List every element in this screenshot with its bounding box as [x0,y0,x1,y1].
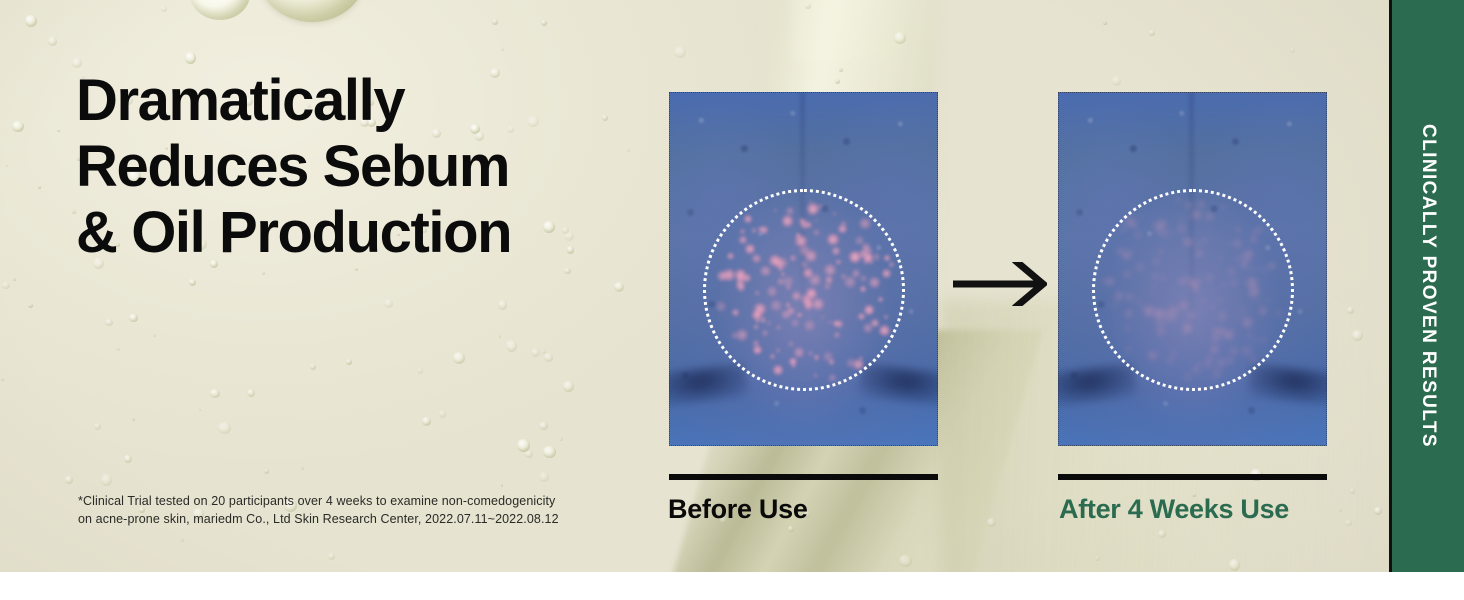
after-label: After 4 Weeks Use [1059,494,1289,525]
bubble-icon [567,246,575,254]
bubble-icon [498,300,508,310]
bubble-icon [517,439,530,452]
bubble-icon [384,299,393,308]
bubble-icon [210,389,219,398]
bubble-icon [602,115,608,121]
before-photo [669,92,938,446]
bubble-icon [12,121,24,133]
bubble-icon [539,422,548,431]
arrow-right-icon [953,262,1047,306]
bubble-icon [129,314,137,322]
bubble-icon [1,378,4,381]
bubble-icon [1290,48,1294,52]
bubble-icon [439,410,447,418]
bubble-icon [1229,559,1240,570]
bubble-icon [674,46,686,58]
bubble-icon [899,555,912,568]
bubble-icon [544,353,553,362]
clinically-proven-band: CLINICALLY PROVEN RESULTS [1389,0,1464,572]
before-label-rule [669,474,938,480]
bubble-icon [1149,30,1155,36]
bubble-icon [65,476,73,484]
bubble-icon [48,37,56,45]
bubble-icon [1374,507,1382,515]
bubble-icon [180,538,184,542]
bubble-icon [13,278,16,281]
before-highlight-circle [703,189,905,391]
bubble-icon [161,6,167,12]
bubble-icon [788,526,793,531]
bubble-icon [218,422,230,434]
bubble-icon [506,340,518,352]
bubble-icon [562,227,569,234]
bubble-icon [539,472,549,482]
bubble-icon [527,116,538,127]
bubble-icon [453,352,465,364]
bubble-icon [525,451,533,459]
clinical-results-banner: Dramatically Reduces Sebum & Oil Product… [0,0,1464,572]
bubble-icon [116,348,119,351]
bubble-icon [563,381,574,392]
bubble-icon [185,52,197,64]
bubble-icon [346,359,352,365]
after-label-rule [1058,474,1327,480]
clinical-trial-footnote: *Clinical Trial tested on 20 participant… [78,492,559,528]
after-highlight-circle [1092,189,1294,391]
bubble-icon [564,268,570,274]
bubble-icon [328,553,335,560]
bubble-icon [1158,530,1165,537]
bubble-icon [264,469,269,474]
bubble-icon [894,32,906,44]
bubble-icon [2,282,10,290]
clinically-proven-band-label: CLINICALLY PROVEN RESULTS [1417,124,1439,448]
bubble-icon [247,389,255,397]
page-title: Dramatically Reduces Sebum & Oil Product… [76,68,511,266]
bubble-icon [1112,76,1122,86]
bubble-icon [543,221,555,233]
bubble-icon [153,334,156,337]
bubble-icon [301,467,304,470]
bubble-icon [105,319,112,326]
bubble-icon [1350,488,1355,493]
bubble-icon [1095,556,1100,561]
bubble-icon [101,474,112,485]
after-photo [1058,92,1327,446]
before-label: Before Use [668,494,808,525]
